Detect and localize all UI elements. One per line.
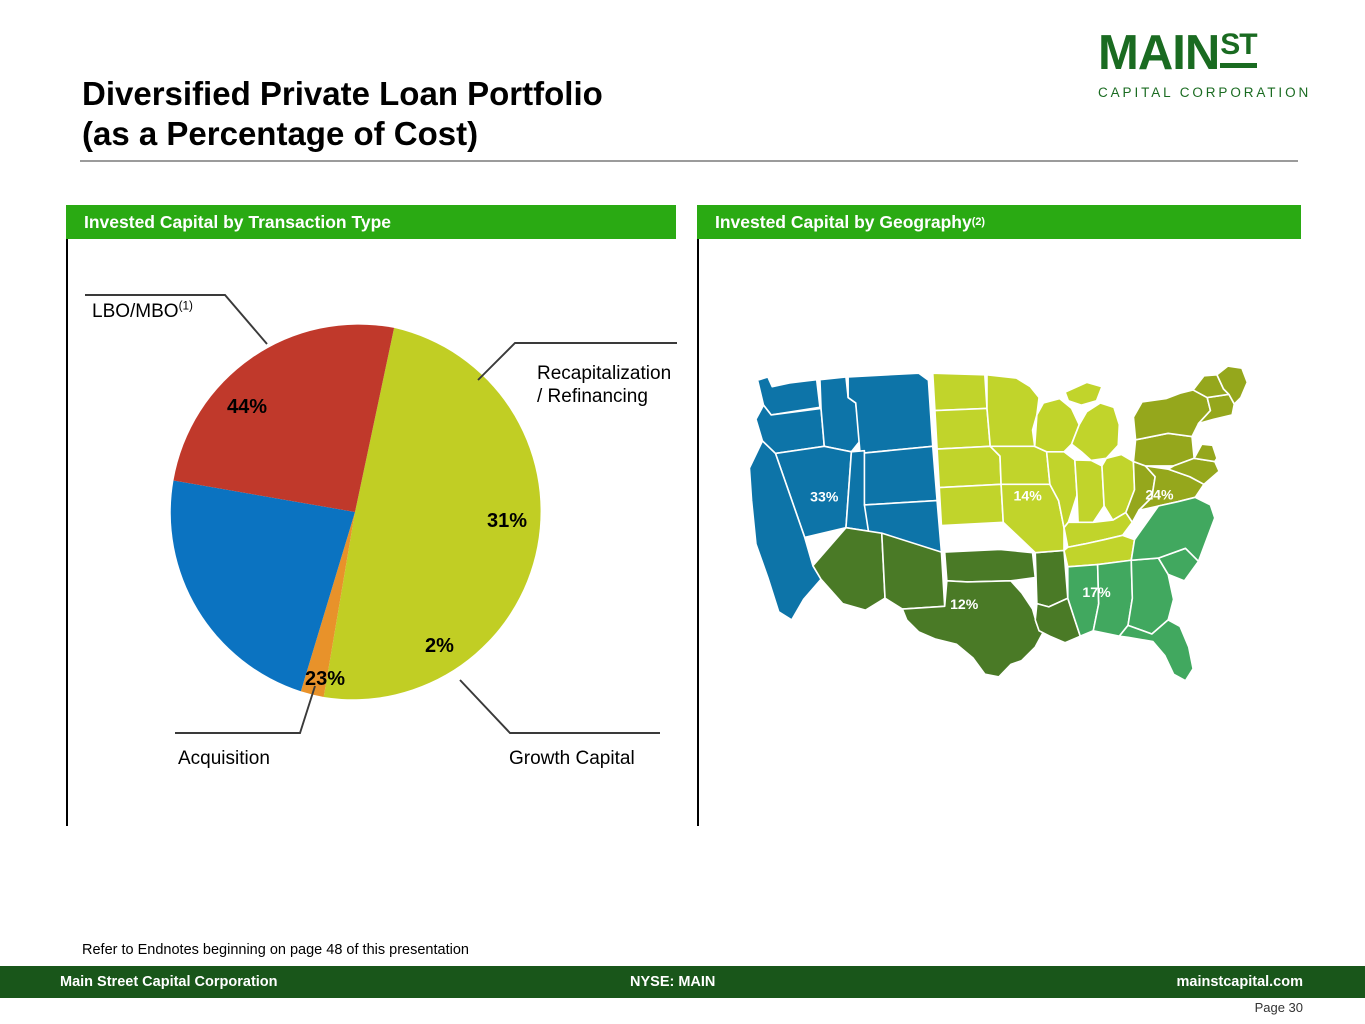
logo-subtitle: CAPITAL CORPORATION — [1098, 85, 1288, 100]
panel-left-title: Invested Capital by Transaction Type — [84, 212, 391, 233]
us-map-geography: 33% 14% 24% 12% 17% — [735, 365, 1265, 685]
pie-callout-recap-line1: Recapitalization — [537, 362, 687, 385]
footer-ticker: NYSE: MAIN — [630, 974, 715, 990]
pie-callout-lbo-mbo: LBO/MBO(1) — [92, 300, 193, 323]
panel-header-transaction-type: Invested Capital by Transaction Type — [66, 205, 676, 239]
panel-left-vertical-divider — [66, 239, 68, 826]
logo-main-text: MAIN — [1098, 28, 1219, 78]
pie-value-acquisition: 23% — [305, 668, 345, 690]
footer-bar: Main Street Capital Corporation NYSE: MA… — [0, 966, 1365, 998]
footer-company-name: Main Street Capital Corporation — [60, 974, 278, 990]
panel-header-geography: Invested Capital by Geography(2) — [697, 205, 1301, 239]
pie-value-lbo-mbo: 44% — [227, 396, 267, 418]
pie-value-growth-capital: 2% — [425, 635, 454, 657]
map-value-southwest: 12% — [950, 596, 979, 612]
map-value-west: 33% — [810, 489, 839, 505]
map-value-midwest: 14% — [1014, 488, 1043, 504]
title-divider — [80, 160, 1298, 162]
pie-callout-recapitalization: Recapitalization / Refinancing — [537, 362, 687, 408]
page-title: Diversified Private Loan Portfolio (as a… — [82, 74, 882, 154]
pie-callout-lbo-mbo-text: LBO/MBO — [92, 301, 179, 322]
page-title-line2: (as a Percentage of Cost) — [82, 114, 882, 154]
panel-right-title: Invested Capital by Geography — [715, 212, 972, 233]
company-logo: MAINST CAPITAL CORPORATION — [1098, 28, 1288, 100]
pie-value-recapitalization: 31% — [487, 510, 527, 532]
page-number: Page 30 — [1255, 1000, 1303, 1015]
page-title-line1: Diversified Private Loan Portfolio — [82, 74, 882, 114]
logo-wordmark: MAINST — [1098, 28, 1288, 78]
logo-st-text: ST — [1220, 30, 1256, 68]
pie-callout-acquisition: Acquisition — [178, 747, 270, 770]
pie-chart-transaction-type: 44% 31% 23% 2% — [160, 315, 560, 715]
map-region-midwest[interactable] — [933, 373, 1135, 567]
map-value-northeast: 24% — [1145, 487, 1174, 503]
pie-callout-growth-capital: Growth Capital — [509, 747, 635, 770]
map-value-southeast: 17% — [1082, 584, 1111, 600]
pie-chart-svg: 44% 31% 23% 2% — [160, 315, 560, 715]
pie-callout-lbo-mbo-marker: (1) — [179, 300, 193, 313]
endnotes-reference: Refer to Endnotes beginning on page 48 o… — [82, 942, 469, 958]
panel-right-vertical-divider — [697, 239, 699, 826]
footer-website[interactable]: mainstcapital.com — [1176, 974, 1303, 990]
us-map-svg: 33% 14% 24% 12% 17% — [735, 365, 1265, 685]
pie-callout-recap-line2: / Refinancing — [537, 385, 687, 408]
